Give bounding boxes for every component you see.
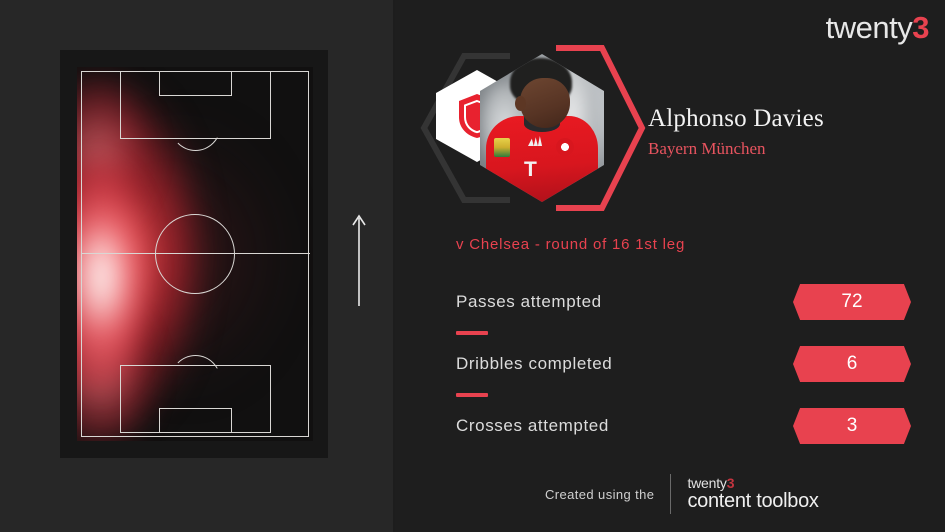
stat-row: Passes attempted 72 [456,280,911,324]
six-yard-box-bottom [159,408,232,433]
player-badge: T [418,42,648,214]
stat-label: Dribbles completed [456,354,612,374]
player-team: Bayern München [648,139,766,159]
stat-row: Crosses attempted 3 [456,404,911,448]
footer: Created using the twenty3 content toolbo… [545,474,819,514]
stat-label: Passes attempted [456,292,602,312]
six-yard-box-top [159,71,232,96]
stat-separator [456,331,488,335]
footer-brand: twenty3 content toolbox [687,476,818,512]
stat-separator [456,393,488,397]
photo-sleeve-patch [494,138,510,157]
stats-list: Passes attempted 72 Dribbles completed 6… [456,280,911,448]
football-pitch [77,67,313,441]
heatmap-card [60,50,328,458]
photo-ear [515,96,526,111]
brand-logo-accent: 3 [912,10,929,45]
match-description: v Chelsea - round of 16 1st leg [456,236,685,253]
twenty3-logo: twenty3 [826,10,929,46]
stat-row: Dribbles completed 6 [456,342,911,386]
centre-circle [155,214,235,294]
stat-value-badge: 6 [793,346,911,382]
hexagon-outline-red-icon [552,42,648,214]
pitch-panel [0,0,393,532]
stat-label: Crosses attempted [456,416,609,436]
footer-brand-bottom: content toolbox [687,491,818,512]
footer-created-text: Created using the [545,487,654,502]
pitch-markings [77,67,313,441]
direction-of-play-arrow-icon [350,212,368,308]
infographic-canvas: twenty3 T Alphonso [0,0,945,532]
footer-divider [670,474,671,514]
player-name: Alphonso Davies [648,105,824,133]
stat-value-badge: 3 [793,408,911,444]
footer-brand-accent: 3 [727,475,735,491]
brand-logo-text: twenty [826,10,913,45]
stat-value-badge: 72 [793,284,911,320]
photo-sponsor-mark: T [524,158,538,182]
footer-brand-top: twenty [687,475,726,491]
